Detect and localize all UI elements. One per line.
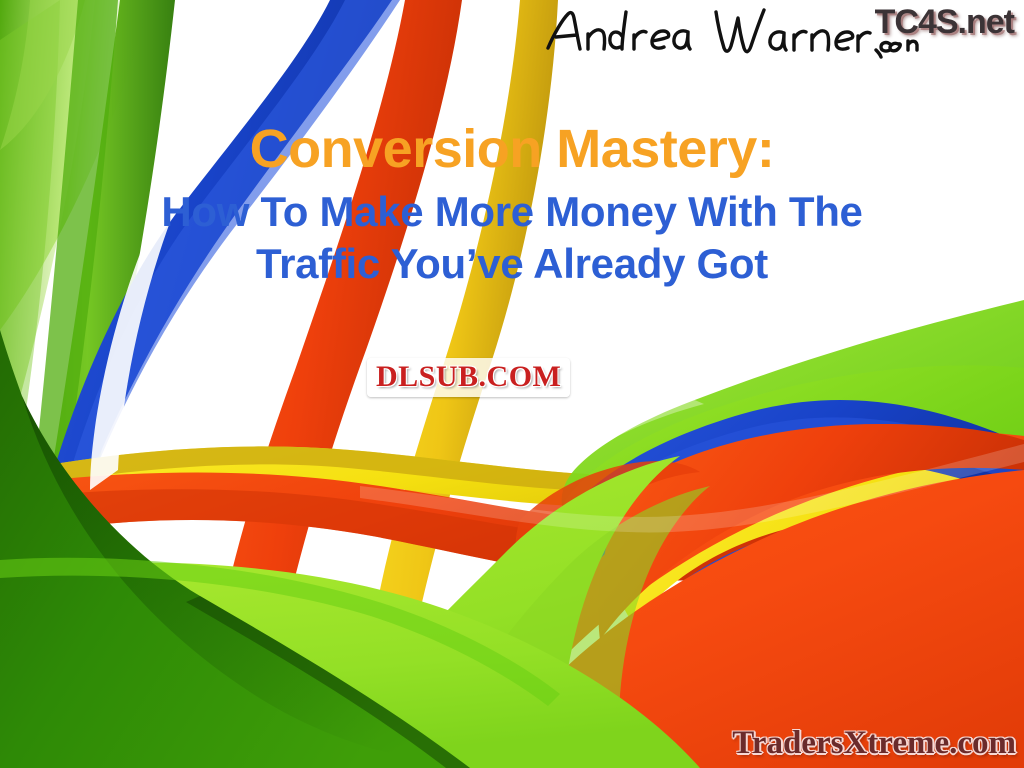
dlsub-watermark-badge: DLSUB.COM: [367, 358, 570, 397]
title-block: Conversion Mastery: How To Make More Mon…: [0, 118, 1024, 290]
tc4s-watermark: TC4S.net: [875, 2, 1014, 42]
subtitle-line-1: How To Make More Money With The: [0, 186, 1024, 238]
subtitle-line-2: Traffic You’ve Already Got: [0, 238, 1024, 290]
page-title: Conversion Mastery:: [0, 118, 1024, 180]
handwritten-signature: Andrea Warner: [540, 4, 920, 62]
tradersxtreme-watermark: TradersXtreme.com: [732, 724, 1016, 762]
slide-canvas: Andrea Warner TC4S.net Conversion Master…: [0, 0, 1024, 768]
tradersxtreme-watermark-text: TradersXtreme.com: [732, 724, 1016, 762]
dlsub-watermark-text: DLSUB.COM: [376, 361, 561, 393]
